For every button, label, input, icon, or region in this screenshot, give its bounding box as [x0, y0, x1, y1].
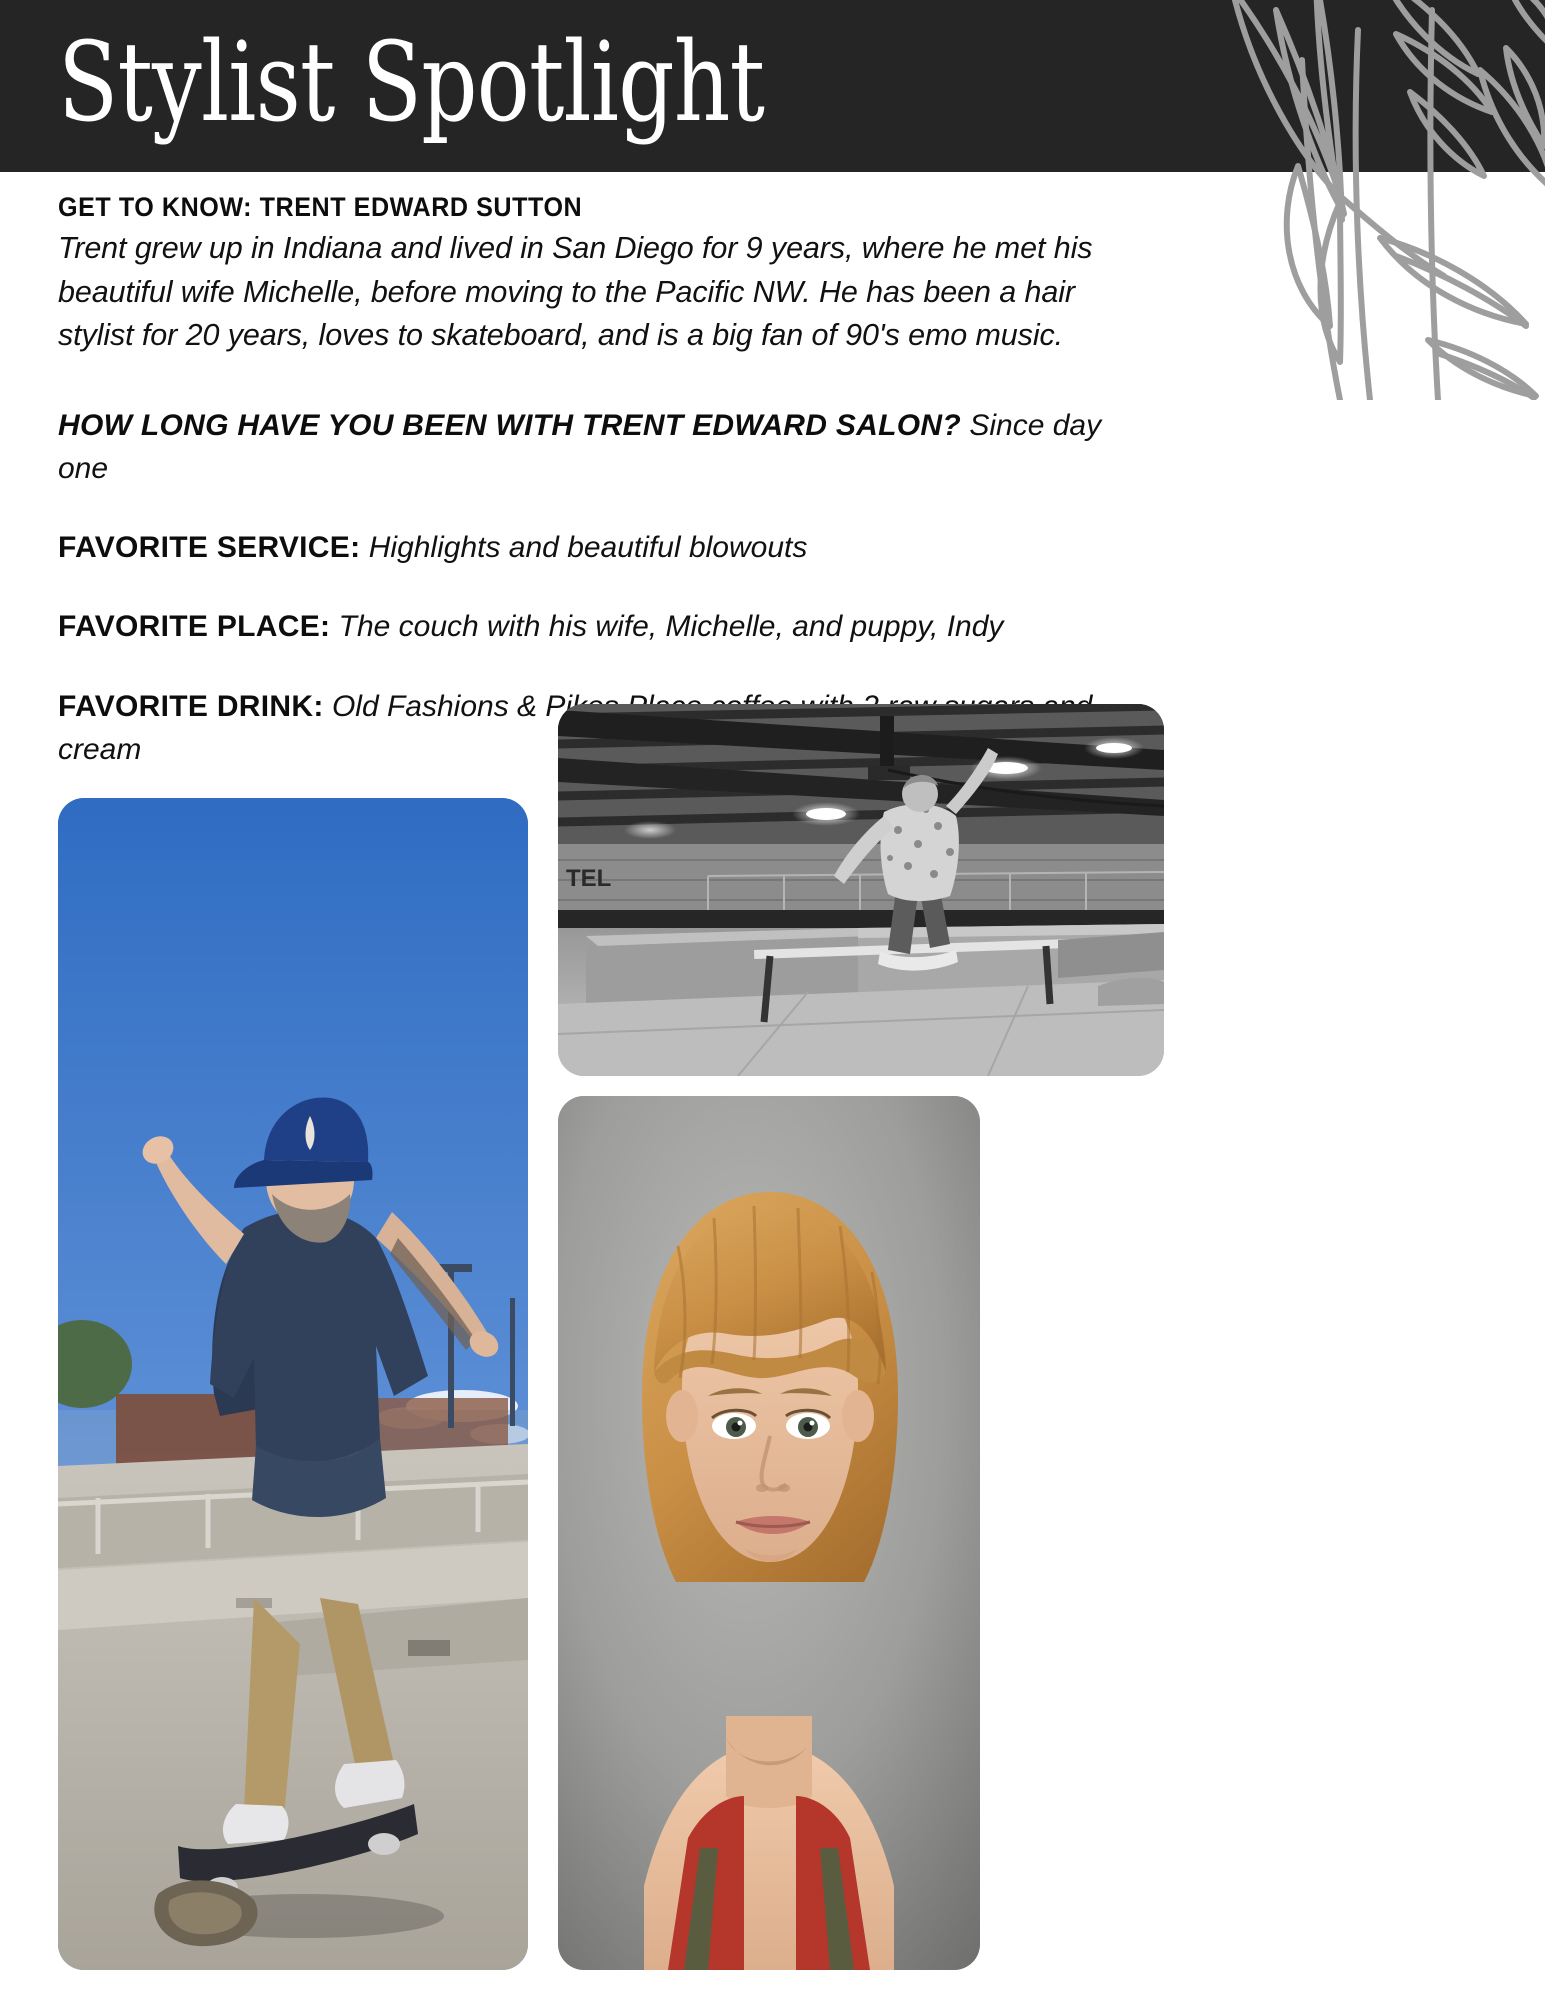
bio-paragraph: Trent grew up in Indiana and lived in Sa…	[58, 227, 1118, 358]
childhood-portrait-photo	[558, 1096, 980, 1970]
skateboarding-indoor-photo: TEL	[558, 704, 1164, 1076]
qa-item-favorite-service: FAVORITE SERVICE: Highlights and beautif…	[58, 526, 1118, 569]
header-band: Stylist Spotlight	[0, 0, 1545, 172]
skateboarding-outdoor-photo	[58, 798, 528, 1970]
qa-item-favorite-place: FAVORITE PLACE: The couch with his wife,…	[58, 605, 1118, 648]
qa-item-tenure: HOW LONG HAVE YOU BEEN WITH TRENT EDWARD…	[58, 404, 1118, 490]
qa-label: HOW LONG HAVE YOU BEEN WITH TRENT EDWARD…	[58, 409, 961, 442]
svg-text:TEL: TEL	[566, 865, 611, 892]
page-title: Stylist Spotlight	[58, 18, 764, 148]
qa-answer: Highlights and beautiful blowouts	[369, 531, 808, 564]
qa-label: FAVORITE SERVICE:	[58, 531, 360, 564]
qa-label: FAVORITE DRINK:	[58, 690, 324, 723]
section-heading: GET TO KNOW: TRENT EDWARD SUTTON	[58, 192, 1044, 223]
qa-answer: The couch with his wife, Michelle, and p…	[339, 610, 1004, 643]
qa-label: FAVORITE PLACE:	[58, 610, 330, 643]
